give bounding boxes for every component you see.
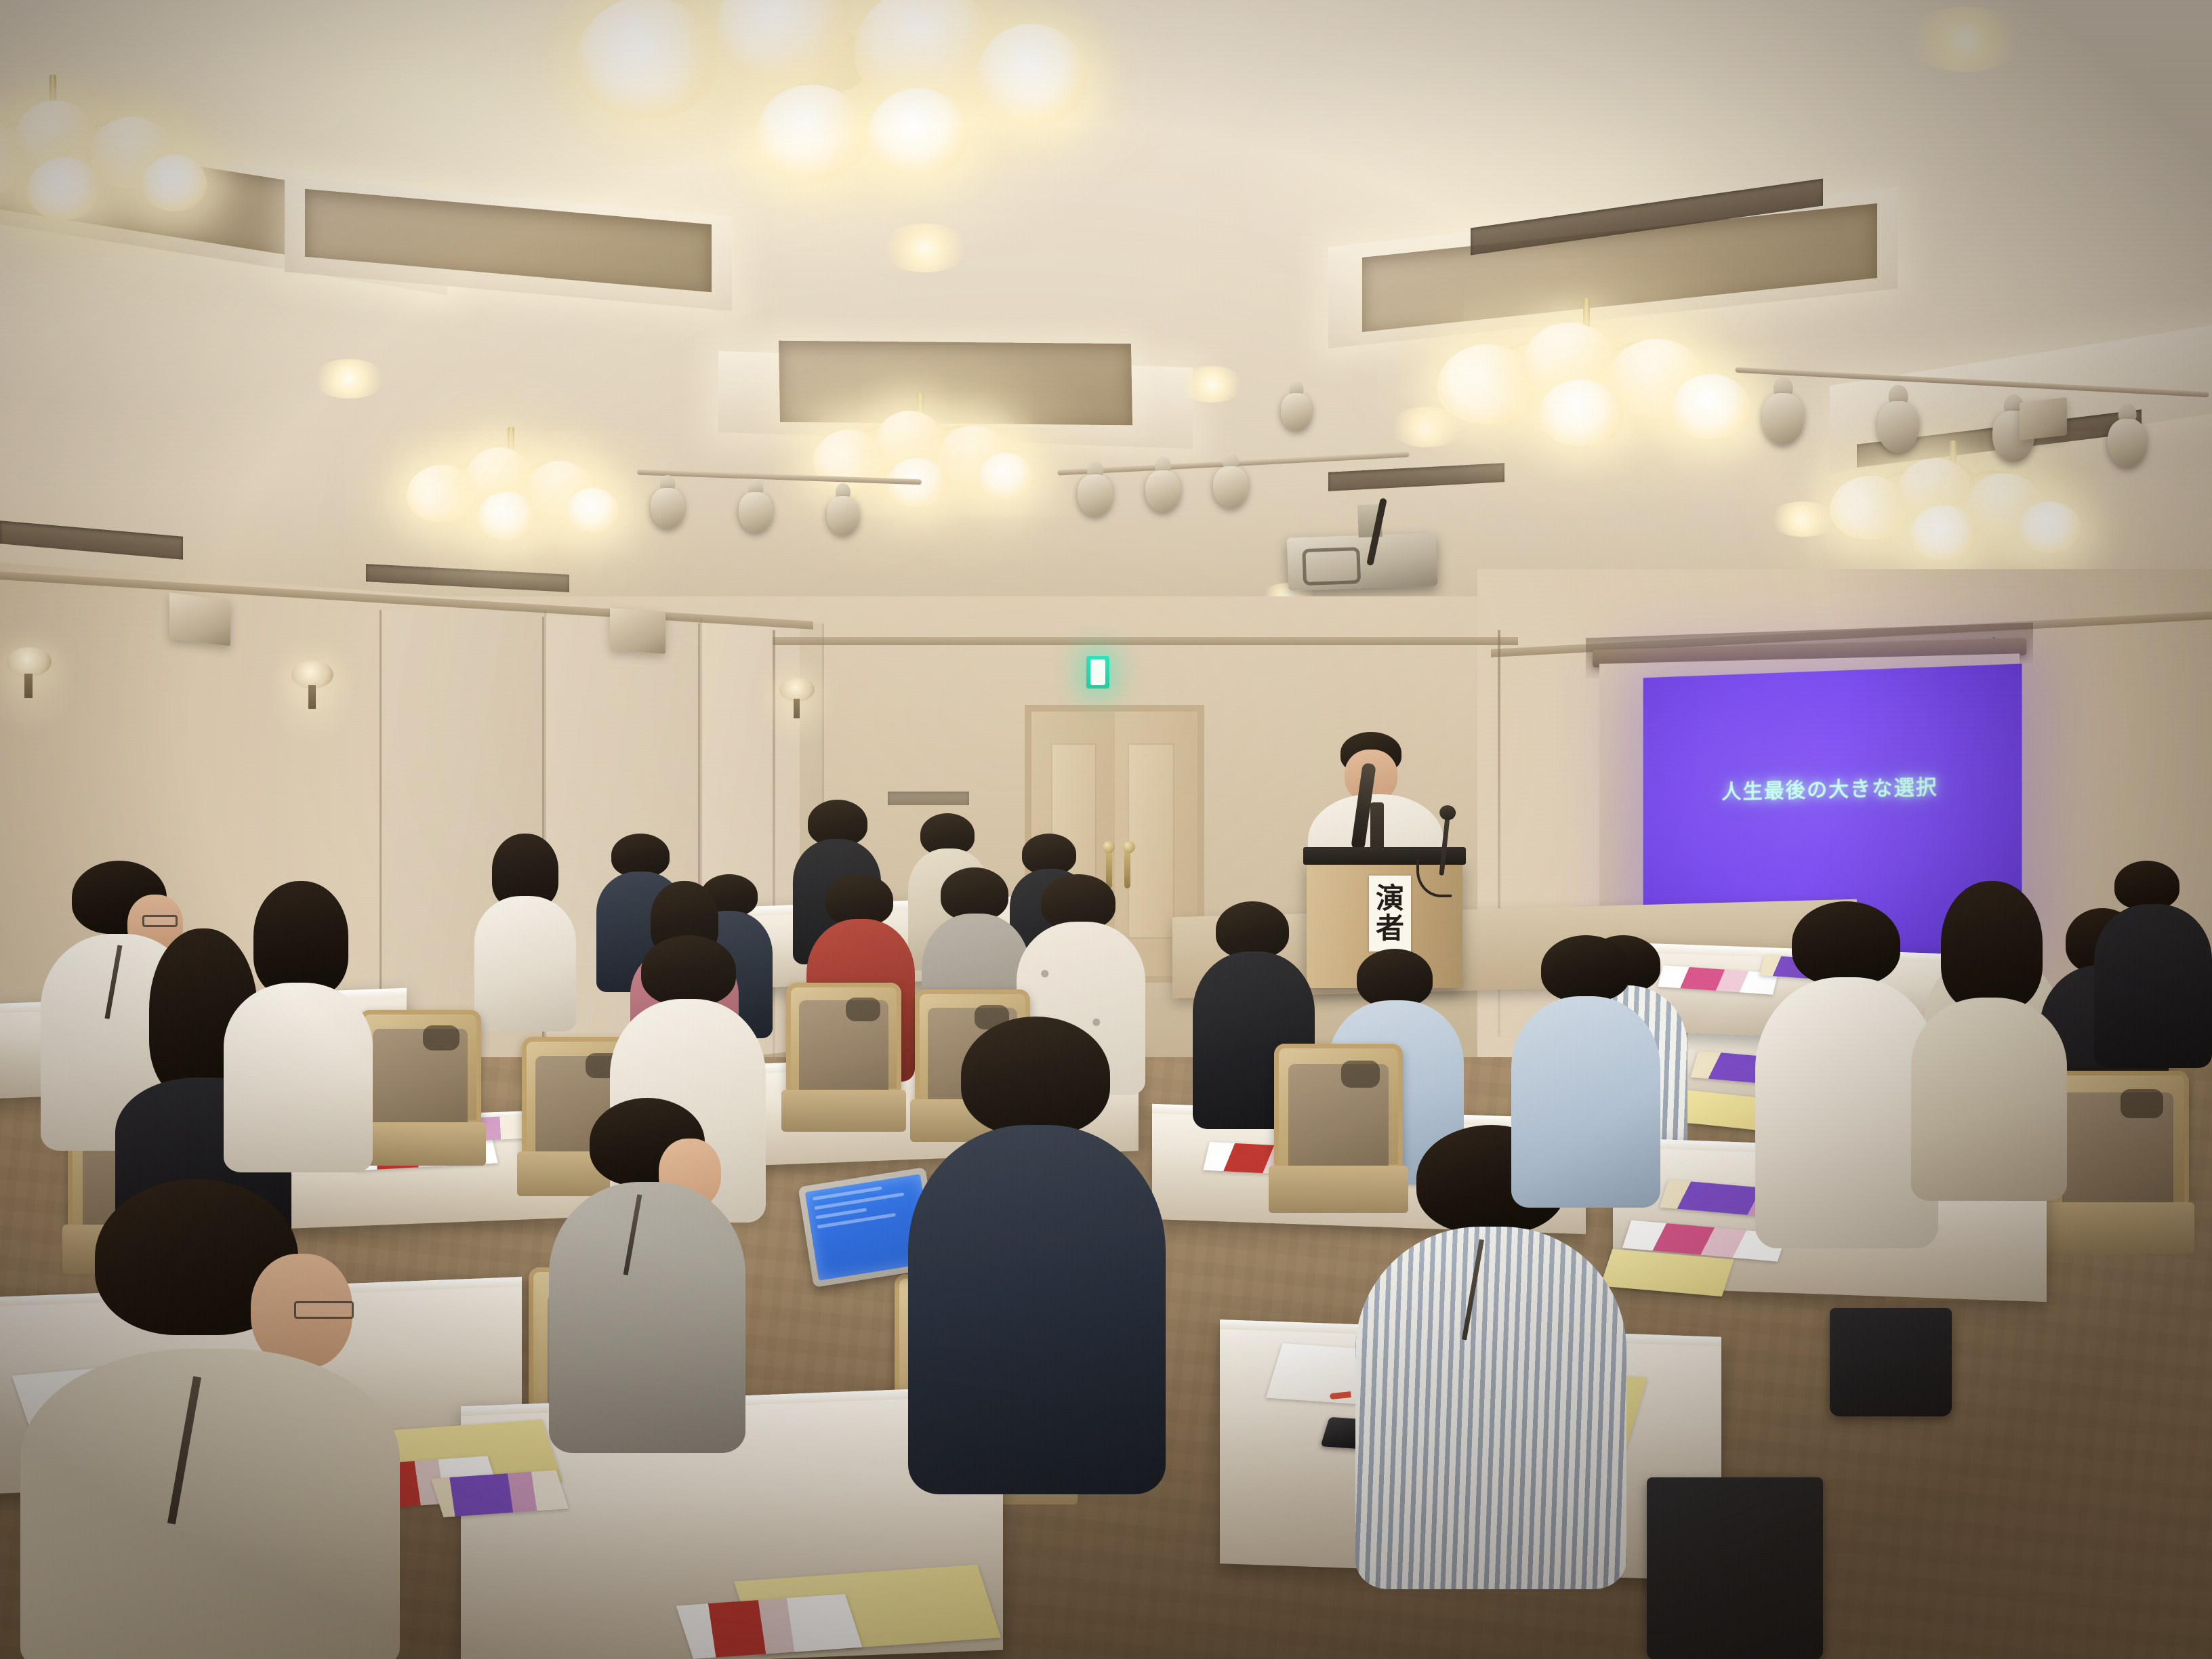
spotlight-10: [2108, 419, 2147, 468]
attendee-f7-shirt: [1355, 1227, 1626, 1589]
wall-sconce-1: [7, 647, 52, 695]
attendee-f8-shirt: [1511, 996, 1660, 1208]
attendee-f11-shirt: [1911, 998, 2067, 1201]
spotlight-6: [827, 496, 859, 535]
wall-sconce-3: [779, 678, 815, 716]
attendee-f6-hair: [961, 1017, 1110, 1135]
lectern-speaker-sign: 演 者: [1369, 876, 1411, 951]
exit-running-man-icon: [1090, 659, 1105, 684]
recessed-downlight-4: [312, 359, 386, 398]
attendee-f9-shirt: [20, 1349, 400, 1659]
ceiling-projector: [1287, 533, 1438, 591]
spotlight-1: [1078, 474, 1113, 516]
spotlight-7: [1762, 393, 1804, 445]
lectern-sign-char-2: 者: [1376, 914, 1404, 943]
chair-1[interactable]: [359, 1010, 481, 1166]
wall-speaker-mid: [610, 608, 665, 654]
recessed-downlight-1: [881, 224, 969, 272]
slide-title-text: 人生最後の大きな選択: [1643, 768, 2022, 806]
chandelier-left: [0, 75, 210, 217]
attendee-f11: [1911, 881, 2067, 1200]
spotlight-11: [1281, 393, 1312, 431]
attendee-f5: [549, 1098, 745, 1450]
recessed-downlight-6: [1769, 501, 1837, 537]
spotlight-8: [1877, 401, 1919, 453]
recessed-downlight-5: [1179, 366, 1244, 403]
wall-grille: [888, 792, 969, 805]
wall-speaker-right: [2020, 397, 2067, 440]
attendee-f9: [20, 1179, 400, 1659]
chandelier-far-right: [1830, 441, 2087, 562]
attendee-f5-shirt: [549, 1182, 745, 1453]
attendee-f3: [224, 881, 373, 1166]
spotlight-5: [739, 492, 773, 533]
spotlight-2: [1145, 470, 1181, 512]
recessed-downlight-2: [1904, 7, 2026, 72]
chandelier-right: [1437, 298, 1762, 447]
attendee-f1-glasses: [142, 915, 178, 927]
chair-3[interactable]: [786, 983, 901, 1132]
door-knob-right[interactable]: [1123, 841, 1135, 853]
chandelier-mid-left: [407, 427, 623, 539]
attendee-m1: [474, 834, 576, 1023]
attendee-f6: [908, 1017, 1166, 1491]
wall-sconce-2: [291, 661, 333, 705]
attendee-f8-hair: [1541, 935, 1631, 1002]
seminar-room-photo: 人生最後の大きな選択 演 者: [0, 0, 2212, 1659]
attendee-f6-shirt: [908, 1125, 1166, 1494]
chandelier-main: [569, 0, 1084, 183]
spotlight-3: [1213, 466, 1248, 508]
attendee-f3-shirt: [224, 983, 373, 1172]
attendee-f10-hair: [1792, 901, 1900, 985]
wall-trim-back: [773, 637, 1518, 645]
spotlight-4: [651, 488, 684, 529]
attendee-f8: [1511, 935, 1660, 1206]
exit-sign: [1086, 656, 1109, 689]
attendee-f4-hair: [641, 935, 736, 1006]
chair-7[interactable]: [2047, 1071, 2189, 1254]
wall-speaker-left: [169, 592, 230, 646]
bag-right-floor: [1830, 1308, 1952, 1416]
attendee-f11-hair: [1941, 881, 2043, 1010]
attendee-f9-glasses: [294, 1301, 354, 1319]
attendee-m11: [2094, 861, 2212, 1064]
attendee-f3-hair: [253, 881, 348, 996]
bag-on-floor: [1647, 1477, 1823, 1659]
lectern-sign-char-1: 演: [1376, 884, 1404, 914]
